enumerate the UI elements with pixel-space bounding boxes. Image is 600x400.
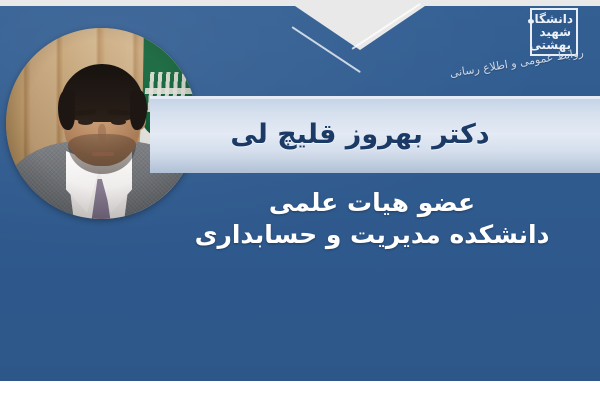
academic-position: عضو هیات علمی	[162, 188, 582, 218]
logo-line-1: دانشگاه	[527, 13, 573, 25]
university-logo: دانشگاه شهید بهشتی روابط عمومی و اطلاع ر…	[504, 6, 590, 98]
title-block: عضو هیات علمی دانشکده مدیریت و حسابداری	[162, 188, 582, 249]
faculty-profile-card: دکتر بهروز قلیچ لی عضو هیات علمی دانشکده…	[0, 0, 600, 400]
logo-line-2: شهید	[539, 26, 571, 38]
footer-whitespace	[0, 381, 600, 400]
public-relations-script: روابط عمومی و اطلاع رسانی	[503, 46, 588, 98]
faculty-department: دانشکده مدیریت و حسابداری	[162, 220, 582, 250]
person-name: دکتر بهروز قلیچ لی	[150, 96, 570, 173]
